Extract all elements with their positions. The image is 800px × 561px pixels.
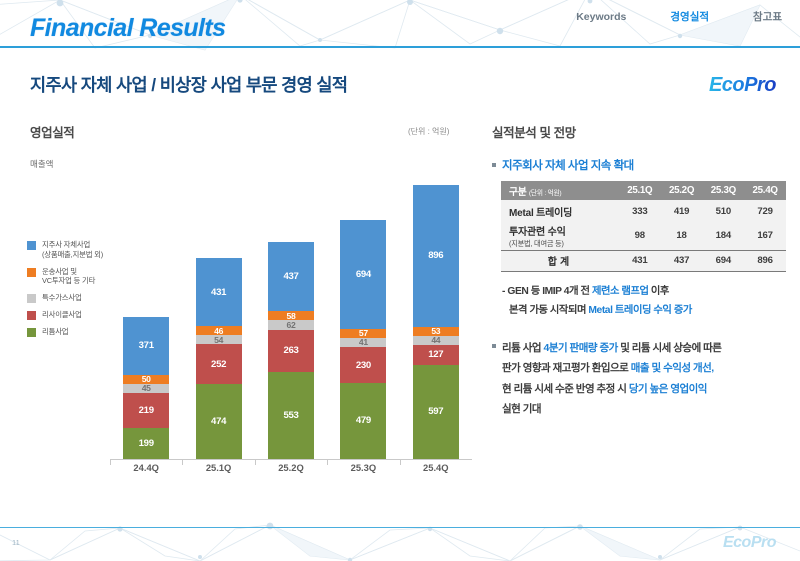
x-axis-label-25-1Q: 25.1Q <box>188 462 250 473</box>
bar-segment-value: 50 <box>142 375 151 384</box>
cell-invest-25-1q: 98 <box>619 222 661 250</box>
footer-divider <box>0 527 800 529</box>
bar-segment-지주사 자체사업 (상품매출,지분법 외): 896 <box>413 185 459 326</box>
bullet-lithium-business-text: 리튬 사업 4분기 판매량 증가 및 리튬 시세 상승에 따른 판가 영향과 재… <box>502 338 721 420</box>
cell-metal-25-4q: 729 <box>744 200 786 222</box>
legend-label-holding: 지주사 자체사업(상품매출,지분법 외) <box>42 240 103 260</box>
cell-total-25-4q: 896 <box>744 250 786 271</box>
bar-segment-value: 437 <box>283 272 298 282</box>
table-header-25-3q: 25.3Q <box>702 181 744 200</box>
bar-segment-value: 263 <box>283 346 298 356</box>
table-header-25-4q: 25.4Q <box>744 181 786 200</box>
bar-segment-리사이클사업: 252 <box>196 344 242 384</box>
row-label-investment-income: 투자관련 수익 (지분법, 대여금 등) <box>501 222 619 250</box>
bar-segment-value: 45 <box>142 384 151 393</box>
table-header-category: 구분 (단위 : 억원) <box>501 181 619 200</box>
slide: Financial Results Keywords 경영실적 참고표 지주사 … <box>0 0 800 561</box>
bullet-square-icon <box>492 344 496 348</box>
cell-invest-25-3q: 184 <box>702 222 744 250</box>
bar-segment-리사이클사업: 127 <box>413 345 459 365</box>
header-divider <box>0 46 800 48</box>
chart-bar-25-4Q[interactable]: 5971274453896 <box>413 185 459 459</box>
bar-segment-value: 553 <box>283 411 298 421</box>
note-ramp-up-line2: 본격 가동 시작되며 Metal 트레이딩 수익 증가 <box>502 301 784 320</box>
nav-item-keywords[interactable]: Keywords <box>576 11 626 23</box>
bar-segment-리튬사업: 474 <box>196 384 242 459</box>
table-row: 투자관련 수익 (지분법, 대여금 등) 98 18 184 167 <box>501 222 786 250</box>
chart-bar-25-2Q[interactable]: 5532636258437 <box>268 242 314 459</box>
bar-segment-value: 479 <box>356 416 371 426</box>
bullet-lithium-business: 리튬 사업 4분기 판매량 증가 및 리튬 시세 상승에 따른 판가 영향과 재… <box>492 338 784 420</box>
bar-segment-리사이클사업: 219 <box>123 393 169 428</box>
x-axis-label-25-3Q: 25.3Q <box>332 462 394 473</box>
cell-metal-25-3q: 510 <box>702 200 744 222</box>
kpi-table: 구분 (단위 : 억원) 25.1Q 25.2Q 25.3Q 25.4Q Met… <box>501 181 786 272</box>
bar-segment-운송사업 및 VC투자업 등 기타: 53 <box>413 327 459 336</box>
bar-segment-value: 230 <box>356 361 371 371</box>
cell-total-25-2q: 437 <box>661 250 703 271</box>
note-ramp-up-line1: - GEN 등 IMIP 4개 전 제련소 램프업 이후 <box>502 282 784 301</box>
cell-total-25-1q: 431 <box>619 250 661 271</box>
bar-segment-value: 127 <box>428 350 443 360</box>
stacked-bar-chart: 1992194550371474252544643155326362584374… <box>110 170 472 460</box>
cell-metal-25-1q: 333 <box>619 200 661 222</box>
cell-metal-25-2q: 419 <box>661 200 703 222</box>
legend-swatch-transport-icon <box>27 268 36 277</box>
bar-segment-지주사 자체사업 (상품매출,지분법 외): 431 <box>196 258 242 326</box>
bar-segment-지주사 자체사업 (상품매출,지분법 외): 371 <box>123 317 169 376</box>
table-header-row: 구분 (단위 : 억원) 25.1Q 25.2Q 25.3Q 25.4Q <box>501 181 786 200</box>
bar-segment-value: 54 <box>214 336 223 345</box>
x-axis-label-24-4Q: 24.4Q <box>115 462 177 473</box>
analysis-title: 실적분석 및 전망 <box>492 122 784 141</box>
chart-axis-label: 매출액 <box>30 158 53 170</box>
bullet-square-icon <box>492 163 496 167</box>
legend-swatch-lithium-icon <box>27 328 36 337</box>
lithium-line-1: 리튬 사업 4분기 판매량 증가 및 리튬 시세 상승에 따른 <box>502 338 721 358</box>
bar-segment-value: 597 <box>428 407 443 417</box>
bar-segment-특수가스사업: 62 <box>268 320 314 330</box>
bar-segment-운송사업 및 VC투자업 등 기타: 46 <box>196 326 242 335</box>
x-axis-label-25-4Q: 25.4Q <box>405 462 467 473</box>
bar-segment-리사이클사업: 230 <box>340 347 386 383</box>
slide-header: Financial Results Keywords 경영실적 참고표 <box>0 0 800 52</box>
bar-segment-value: 58 <box>287 312 296 321</box>
bullet-holding-company-text: 지주회사 자체 사업 지속 확대 <box>502 157 634 173</box>
header-nav: Keywords 경영실적 참고표 <box>576 9 782 24</box>
lithium-line-3: 현 리튬 시세 수준 반영 추정 시 당기 높은 영업이익 <box>502 379 721 399</box>
bar-segment-value: 62 <box>287 321 296 330</box>
bar-segment-value: 474 <box>211 417 226 427</box>
lithium-line-2: 판가 영향과 재고평가 환입으로 매출 및 수익성 개선, <box>502 358 721 378</box>
legend-swatch-gas-icon <box>27 294 36 303</box>
bar-segment-리튬사업: 553 <box>268 372 314 459</box>
table-total-row: 합계 431 437 694 896 <box>501 250 786 271</box>
chart-unit-note: (단위 : 억원) <box>408 126 449 137</box>
ecopro-logo: EcoPro <box>709 74 776 97</box>
ecopro-footer-logo: EcoPro <box>723 534 776 552</box>
left-column: 영업실적 <box>30 122 470 141</box>
cell-invest-25-2q: 18 <box>661 222 703 250</box>
note-ramp-up: - GEN 등 IMIP 4개 전 제련소 램프업 이후 본격 가동 시작되며 … <box>502 282 784 320</box>
bar-segment-value: 219 <box>139 406 154 416</box>
bar-segment-지주사 자체사업 (상품매출,지분법 외): 437 <box>268 242 314 311</box>
nav-item-reference[interactable]: 참고표 <box>753 9 782 24</box>
operating-results-title: 영업실적 <box>30 122 470 141</box>
row-label-metal-trading: Metal 트레이딩 <box>501 200 619 222</box>
bar-segment-특수가스사업: 54 <box>196 335 242 344</box>
cell-total-25-3q: 694 <box>702 250 744 271</box>
bar-segment-value: 41 <box>359 338 368 347</box>
bar-segment-리튬사업: 597 <box>413 365 459 459</box>
bar-segment-value: 46 <box>214 327 223 336</box>
chart-x-axis-labels: 24.4Q25.1Q25.2Q25.3Q25.4Q <box>110 462 472 480</box>
chart-bar-24-4Q[interactable]: 1992194550371 <box>123 317 169 459</box>
bar-segment-value: 896 <box>428 251 443 261</box>
bar-segment-리사이클사업: 263 <box>268 330 314 371</box>
bar-segment-운송사업 및 VC투자업 등 기타: 57 <box>340 329 386 338</box>
bar-segment-value: 371 <box>139 341 154 351</box>
header-title: Financial Results <box>30 14 225 43</box>
bar-segment-value: 44 <box>431 336 440 345</box>
page-title: 지주사 자체 사업 / 비상장 사업 부문 경영 실적 <box>30 72 347 97</box>
table-header-25-2q: 25.2Q <box>661 181 703 200</box>
bar-segment-특수가스사업: 44 <box>413 336 459 345</box>
bar-segment-리튬사업: 199 <box>123 428 169 459</box>
page-number: 11 <box>12 538 20 547</box>
bar-segment-value: 694 <box>356 270 371 280</box>
bar-segment-운송사업 및 VC투자업 등 기타: 50 <box>123 375 169 384</box>
bar-segment-특수가스사업: 45 <box>123 384 169 393</box>
x-axis-label-25-2Q: 25.2Q <box>260 462 322 473</box>
lithium-line-4: 실현 기대 <box>502 399 721 419</box>
bar-segment-value: 53 <box>431 327 440 336</box>
chart-bar-25-1Q[interactable]: 4742525446431 <box>196 258 242 459</box>
bar-segment-value: 57 <box>359 329 368 338</box>
bar-segment-value: 252 <box>211 360 226 370</box>
bar-segment-value: 431 <box>211 288 226 298</box>
table-row: Metal 트레이딩 333 419 510 729 <box>501 200 786 222</box>
right-column: 실적분석 및 전망 지주회사 자체 사업 지속 확대 구분 (단위 : 억원) … <box>492 122 784 419</box>
bar-segment-value: 199 <box>139 439 154 449</box>
legend-label-gas: 특수가스사업 <box>42 293 82 303</box>
legend-swatch-holding-icon <box>27 241 36 250</box>
legend-label-transport: 운송사업 및VC투자업 등 기타 <box>42 267 95 287</box>
chart-baseline <box>110 459 472 460</box>
bullet-holding-company: 지주회사 자체 사업 지속 확대 <box>492 157 784 173</box>
bar-segment-지주사 자체사업 (상품매출,지분법 외): 694 <box>340 220 386 329</box>
bar-segment-특수가스사업: 41 <box>340 338 386 347</box>
bar-segment-운송사업 및 VC투자업 등 기타: 58 <box>268 311 314 320</box>
legend-label-recycle: 리사이클사업 <box>42 310 82 320</box>
row-label-total: 합계 <box>501 250 619 271</box>
legend-swatch-recycle-icon <box>27 311 36 320</box>
chart-bar-25-3Q[interactable]: 4792304157694 <box>340 220 386 459</box>
legend-label-lithium: 리튬사업 <box>42 327 68 337</box>
table-header-25-1q: 25.1Q <box>619 181 661 200</box>
bar-segment-리튬사업: 479 <box>340 383 386 459</box>
nav-item-management-results[interactable]: 경영실적 <box>670 9 709 24</box>
cell-invest-25-4q: 167 <box>744 222 786 250</box>
